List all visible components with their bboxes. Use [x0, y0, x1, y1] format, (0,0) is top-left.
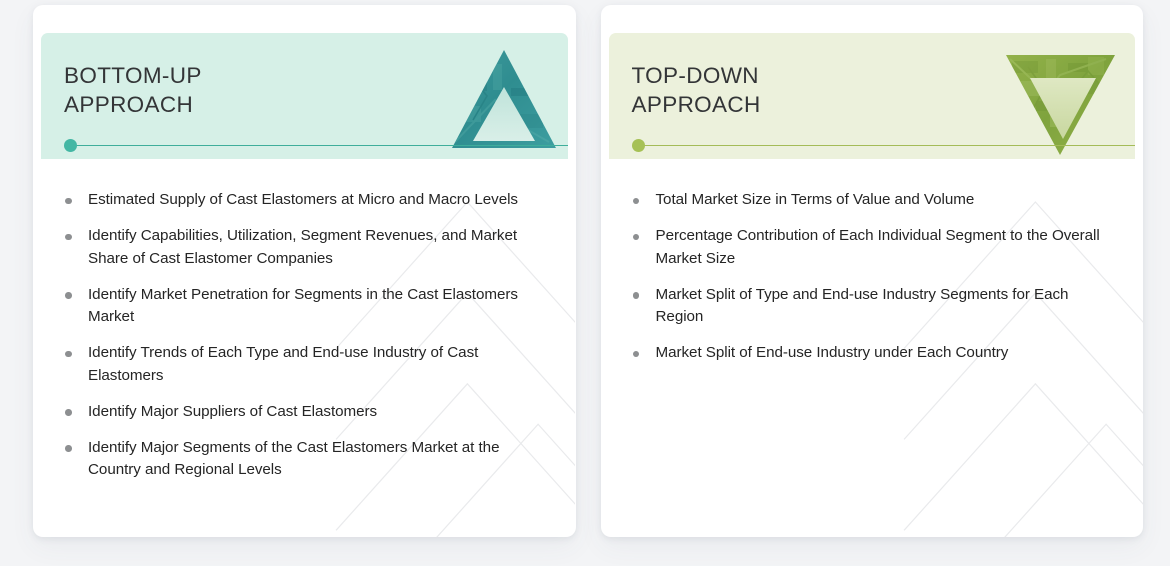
accent-dot [64, 139, 77, 152]
bullet-dot-icon [65, 409, 72, 416]
card-title-bottom-up: BOTTOM-UP APPROACH [64, 61, 202, 119]
list-item-text: Identify Market Penetration for Segments… [88, 286, 518, 326]
bullet-dot-icon [633, 351, 640, 358]
list-item: Estimated Supply of Cast Elastomers at M… [56, 189, 546, 212]
header-accent-rule [64, 144, 568, 146]
list-item-text: Identify Trends of Each Type and End-use… [88, 344, 478, 384]
accent-line [638, 145, 1136, 147]
list-item-text: Percentage Contribution of Each Individu… [656, 227, 1100, 267]
bullet-list-bottom-up: Estimated Supply of Cast Elastomers at M… [56, 189, 546, 482]
bullet-dot-icon [633, 292, 640, 299]
bullet-dot-icon [633, 198, 640, 205]
card-bottom-up: BOTTOM-UP APPROACH Estimated Supply of C… [33, 5, 576, 537]
header-accent-rule [632, 144, 1136, 146]
list-item: Identify Major Suppliers of Cast Elastom… [56, 401, 546, 424]
card-header-top-down: TOP-DOWN APPROACH [609, 33, 1136, 159]
triangle-up-icon [449, 44, 559, 159]
card-title-top-down: TOP-DOWN APPROACH [632, 61, 761, 119]
triangle-down-icon [1002, 41, 1119, 159]
card-header-bottom-up: BOTTOM-UP APPROACH [41, 33, 568, 159]
list-item-text: Identify Capabilities, Utilization, Segm… [88, 227, 517, 267]
list-item: Identify Capabilities, Utilization, Segm… [56, 225, 546, 270]
list-item-text: Total Market Size in Terms of Value and … [656, 191, 975, 208]
card-body-top-down: Total Market Size in Terms of Value and … [601, 159, 1144, 537]
list-item-text: Market Split of End-use Industry under E… [656, 344, 1009, 361]
accent-dot [632, 139, 645, 152]
list-item: Market Split of End-use Industry under E… [624, 342, 1114, 365]
bullet-dot-icon [65, 234, 72, 241]
list-item: Total Market Size in Terms of Value and … [624, 189, 1114, 212]
card-top-down: TOP-DOWN APPROACH Total Market Size in T… [601, 5, 1144, 537]
list-item: Percentage Contribution of Each Individu… [624, 225, 1114, 270]
bullet-dot-icon [65, 351, 72, 358]
bullet-list-top-down: Total Market Size in Terms of Value and … [624, 189, 1114, 365]
list-item-text: Market Split of Type and End-use Industr… [656, 286, 1069, 326]
methodology-diagram: BOTTOM-UP APPROACH Estimated Supply of C… [0, 0, 1170, 566]
list-item: Market Split of Type and End-use Industr… [624, 284, 1114, 329]
accent-line [70, 145, 568, 147]
approach-cards-container: BOTTOM-UP APPROACH Estimated Supply of C… [0, 0, 1170, 566]
list-item-text: Identify Major Segments of the Cast Elas… [88, 439, 499, 479]
bullet-dot-icon [65, 445, 72, 452]
list-item: Identify Trends of Each Type and End-use… [56, 342, 546, 387]
card-body-bottom-up: Estimated Supply of Cast Elastomers at M… [33, 159, 576, 537]
bullet-dot-icon [65, 198, 72, 205]
list-item-text: Identify Major Suppliers of Cast Elastom… [88, 403, 377, 420]
bullet-dot-icon [633, 234, 640, 241]
bullet-dot-icon [65, 292, 72, 299]
list-item-text: Estimated Supply of Cast Elastomers at M… [88, 191, 518, 208]
list-item: Identify Market Penetration for Segments… [56, 284, 546, 329]
list-item: Identify Major Segments of the Cast Elas… [56, 437, 546, 482]
